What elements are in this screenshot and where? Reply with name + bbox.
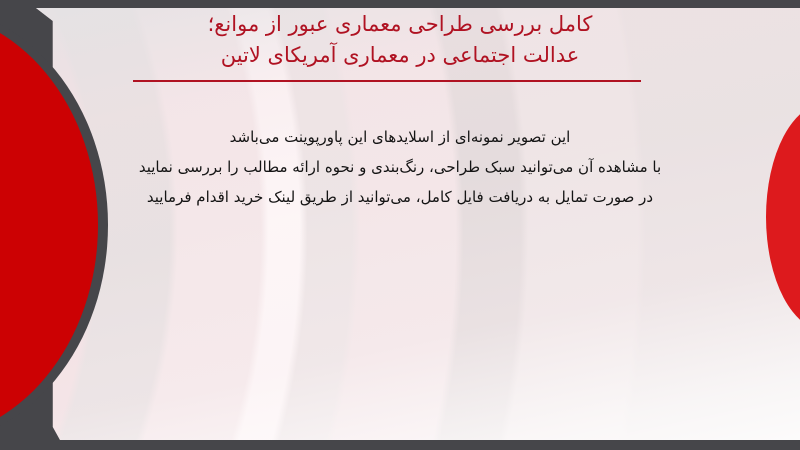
title-line-1: کامل بررسی طراحی معماری عبور از موانع؛ (100, 9, 700, 40)
body-line-3: در صورت تمایل به دریافت فایل کامل، می‌تو… (60, 182, 740, 212)
title-underline-rule (133, 80, 641, 82)
slide-body-text: این تصویر نمونه‌ای از اسلایدهای این پاور… (60, 122, 740, 212)
title-line-2: عدالت اجتماعی در معماری آمریکای لاتین (100, 40, 700, 71)
slide-content: کامل بررسی طراحی معماری عبور از موانع؛ ع… (0, 0, 800, 450)
body-line-1: این تصویر نمونه‌ای از اسلایدهای این پاور… (60, 122, 740, 152)
body-line-2: با مشاهده آن می‌توانید سبک طراحی، رنگ‌بن… (60, 152, 740, 182)
presentation-slide: کامل بررسی طراحی معماری عبور از موانع؛ ع… (0, 0, 800, 450)
slide-title: کامل بررسی طراحی معماری عبور از موانع؛ ع… (100, 9, 700, 71)
